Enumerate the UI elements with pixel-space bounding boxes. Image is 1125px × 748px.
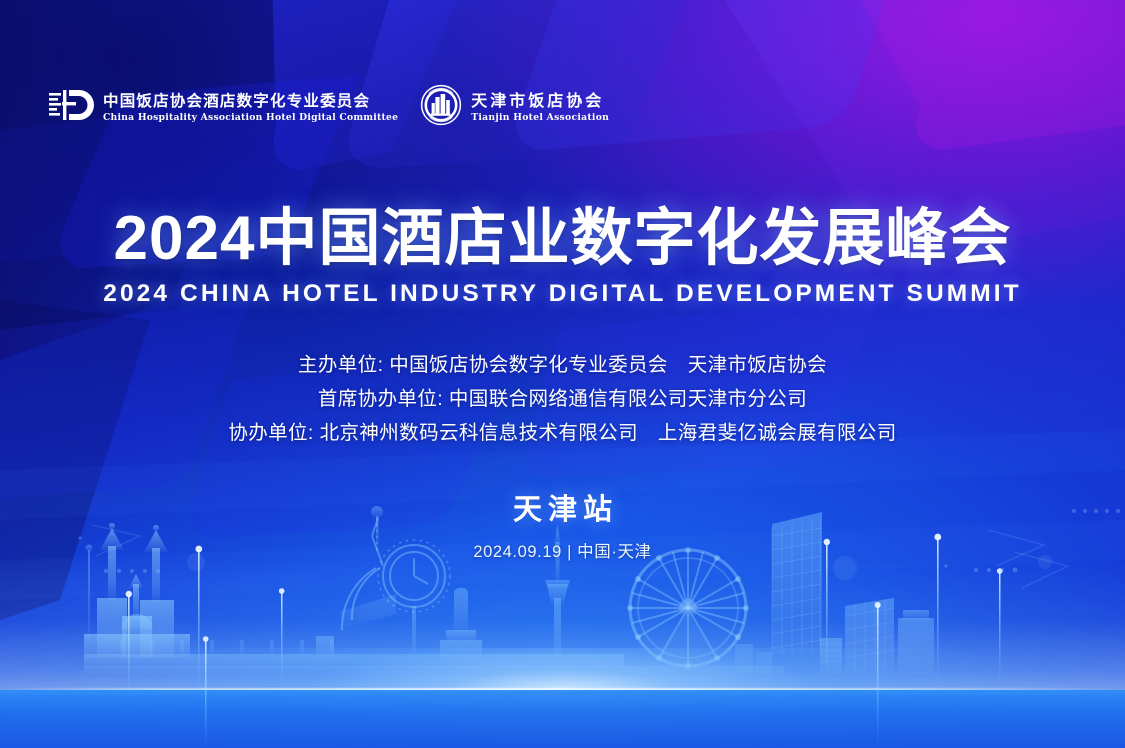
organizers-block: 主办单位: 中国饭店协会数字化专业委员会 天津市饭店协会 首席协办单位: 中国联… (0, 348, 1125, 450)
logo-tianjin-hotel-association: 天津市饭店协会 Tianjin Hotel Association (420, 84, 609, 131)
conference-banner: 中国饭店协会酒店数字化专业委员会 China Hospitality Assoc… (0, 0, 1125, 748)
logo-name-cn: 中国饭店协会酒店数字化专业委员会 (103, 93, 398, 109)
logo-text-block: 中国饭店协会酒店数字化专业委员会 China Hospitality Assoc… (103, 93, 398, 122)
station-name: 天津站 (0, 486, 1125, 528)
station-date-location: 2024.09.19 | 中国·天津 (0, 538, 1125, 562)
logo-name-cn: 天津市饭店协会 (471, 93, 609, 109)
china-hospitality-association-logo-icon (48, 85, 94, 130)
logo-text-block: 天津市饭店协会 Tianjin Hotel Association (471, 93, 609, 122)
station-block: 天津站 2024.09.19 | 中国·天津 (0, 486, 1125, 562)
page-title-cn: 2024中国酒店业数字化发展峰会 (0, 206, 1125, 271)
header-logos: 中国饭店协会酒店数字化专业委员会 China Hospitality Assoc… (48, 84, 609, 131)
logo-china-hospitality-association: 中国饭店协会酒店数字化专业委员会 China Hospitality Assoc… (48, 85, 398, 130)
organizer-line-co-hosts: 协办单位: 北京神州数码云科信息技术有限公司 上海君斐亿诚会展有限公司 (0, 416, 1125, 450)
title-block: 2024中国酒店业数字化发展峰会 2024 CHINA HOTEL INDUST… (0, 206, 1125, 308)
tianjin-hotel-association-logo-icon (420, 84, 462, 131)
logo-name-en: Tianjin Hotel Association (471, 113, 609, 122)
organizer-line-host: 主办单位: 中国饭店协会数字化专业委员会 天津市饭店协会 (0, 348, 1125, 382)
page-title-en: 2024 CHINA HOTEL INDUSTRY DIGITAL DEVELO… (0, 280, 1125, 308)
organizer-line-chief-co-host: 首席协办单位: 中国联合网络通信有限公司天津市分公司 (0, 382, 1125, 416)
logo-name-en: China Hospitality Association Hotel Digi… (103, 113, 398, 122)
